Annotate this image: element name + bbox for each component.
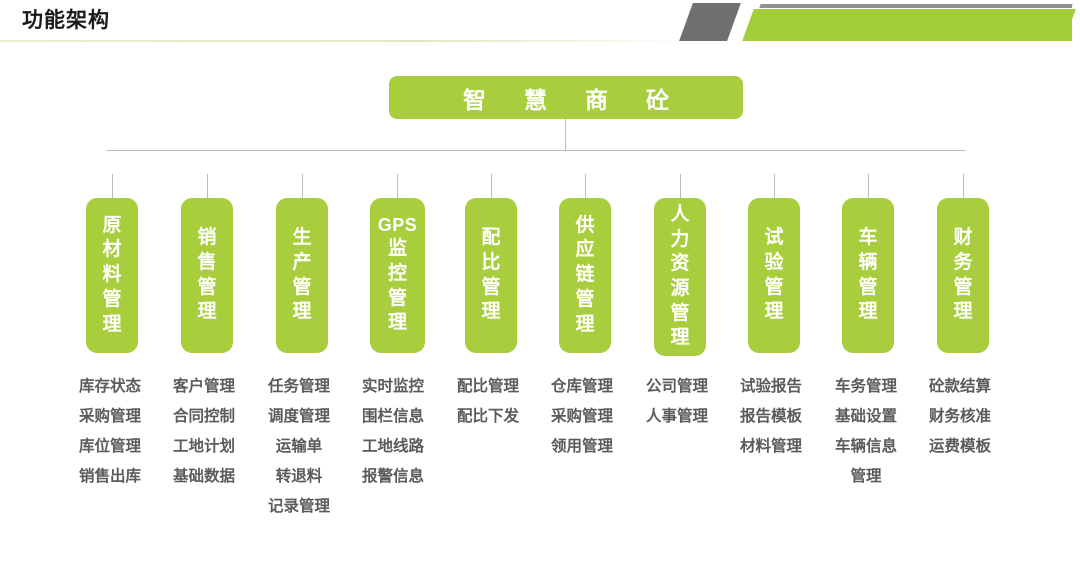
module-node-box[interactable]: 销售管理 xyxy=(181,198,233,353)
module-node-box[interactable]: 供应链管理 xyxy=(559,198,611,353)
module-node-label-char: 配 xyxy=(481,226,500,251)
module-node-label: 财务管理 xyxy=(953,226,972,325)
leaf-list-item[interactable]: 管理 xyxy=(818,462,914,492)
root-node[interactable]: 智慧商砼 xyxy=(389,76,743,119)
module-node-label-char: 管 xyxy=(102,288,121,313)
leaf-list-item[interactable]: 车辆信息 xyxy=(818,432,914,462)
leaf-list-item[interactable]: 采购管理 xyxy=(534,402,630,432)
leaf-list: 砼款结算财务核准运费模板 xyxy=(912,372,1008,462)
leaf-list: 配比管理配比下发 xyxy=(440,372,536,432)
module-node-box[interactable]: 配比管理 xyxy=(465,198,517,353)
module-node-label-char: 原 xyxy=(102,214,121,239)
leaf-list-item[interactable]: 仓库管理 xyxy=(534,372,630,402)
leaf-list-item[interactable]: 材料管理 xyxy=(723,432,819,462)
connector-root-stem xyxy=(565,119,566,150)
module-node-label-char: 理 xyxy=(292,300,311,325)
module-node-label-char: 比 xyxy=(481,251,500,276)
module-node-label-char: 管 xyxy=(953,276,972,301)
leaf-list: 库存状态采购管理库位管理销售出库 xyxy=(62,372,158,492)
module-node-label-char: 理 xyxy=(764,300,783,325)
module-node-label-char: 理 xyxy=(481,300,500,325)
page-title: 功能架构 xyxy=(22,4,110,34)
root-node-label: 智慧商砼 xyxy=(425,81,707,115)
module-node-label: 人力资源管理 xyxy=(670,203,689,351)
leaf-list: 实时监控围栏信息工地线路报警信息 xyxy=(345,372,441,492)
page-header: 功能架构 xyxy=(0,0,1080,46)
leaf-list-item[interactable]: 客户管理 xyxy=(156,372,252,402)
module-node-label-char: 管 xyxy=(481,276,500,301)
module-node-label-char: 材 xyxy=(102,238,121,263)
leaf-list: 任务管理调度管理运输单转退料记录管理 xyxy=(251,372,347,522)
module-node-label-char: 链 xyxy=(575,263,594,288)
module-node-label-char: 管 xyxy=(575,288,594,313)
connector-drop-line xyxy=(207,174,208,198)
leaf-list-item[interactable]: 财务核准 xyxy=(912,402,1008,432)
leaf-list-item[interactable]: 配比管理 xyxy=(440,372,536,402)
connector-drop-line xyxy=(774,174,775,198)
leaf-list-item[interactable]: 销售出库 xyxy=(62,462,158,492)
leaf-list-item[interactable]: 基础设置 xyxy=(818,402,914,432)
leaf-list-item[interactable]: 运输单 xyxy=(251,432,347,462)
module-node-label-char: 源 xyxy=(670,277,689,302)
module-node-label-char: 车 xyxy=(858,226,877,251)
module-node-label-char: 理 xyxy=(858,300,877,325)
module-node-box[interactable]: 试验管理 xyxy=(748,198,800,353)
module-node-label-char: 产 xyxy=(292,251,311,276)
leaf-list-item[interactable]: 报警信息 xyxy=(345,462,441,492)
header-gray-stripe-bar xyxy=(812,4,1072,8)
connector-drop-line xyxy=(491,174,492,198)
connector-drop-line xyxy=(963,174,964,198)
connector-drop-line xyxy=(112,174,113,198)
header-divider-rule xyxy=(0,40,700,42)
connector-drop-line xyxy=(397,174,398,198)
module-node-label-char: 力 xyxy=(670,228,689,253)
module-node-label-char: 理 xyxy=(197,300,216,325)
module-node-label-char: 供 xyxy=(575,214,594,239)
leaf-list-item[interactable]: 砼款结算 xyxy=(912,372,1008,402)
module-node-label-char: 销 xyxy=(197,226,216,251)
module-node-label-char: 管 xyxy=(858,276,877,301)
leaf-list-row: 库存状态采购管理库位管理销售出库客户管理合同控制工地计划基础数据任务管理调度管理… xyxy=(0,372,1080,552)
module-node-label: 配比管理 xyxy=(481,226,500,325)
leaf-list-item[interactable]: 报告模板 xyxy=(723,402,819,432)
leaf-list-item[interactable]: 合同控制 xyxy=(156,402,252,432)
module-node-box[interactable]: 人力资源管理 xyxy=(654,198,706,356)
module-node-label-char: 人 xyxy=(670,203,689,228)
module-node-label-char: 管 xyxy=(292,276,311,301)
module-node-label-char: 控 xyxy=(388,262,407,287)
module-node-label-char: 理 xyxy=(670,326,689,351)
leaf-list-item[interactable]: 采购管理 xyxy=(62,402,158,432)
leaf-list-item[interactable]: 调度管理 xyxy=(251,402,347,432)
header-gray-parallelogram-icon xyxy=(679,3,741,41)
leaf-list-item[interactable]: 实时监控 xyxy=(345,372,441,402)
module-node-label: 监控管理 xyxy=(388,237,407,336)
module-node-label-char: 料 xyxy=(102,263,121,288)
module-node-label-char: 试 xyxy=(764,226,783,251)
module-node-label-char: 管 xyxy=(670,302,689,327)
connector-drop-line xyxy=(302,174,303,198)
module-node-label-char: 理 xyxy=(953,300,972,325)
module-node-label-char: 监 xyxy=(388,237,407,262)
module-node-label: 供应链管理 xyxy=(575,214,594,337)
module-node-label: 试验管理 xyxy=(764,226,783,325)
leaf-list: 客户管理合同控制工地计划基础数据 xyxy=(156,372,252,492)
module-node-label-char: 辆 xyxy=(858,251,877,276)
module-node-label: 原材料管理 xyxy=(102,214,121,337)
module-node-latin-label: GPS xyxy=(378,215,418,237)
module-node-label-char: 售 xyxy=(197,251,216,276)
leaf-list-item[interactable]: 工地线路 xyxy=(345,432,441,462)
module-node-box[interactable]: 原材料管理 xyxy=(86,198,138,353)
leaf-list-item[interactable]: 基础数据 xyxy=(156,462,252,492)
leaf-list-item[interactable]: 任务管理 xyxy=(251,372,347,402)
connector-drop-line xyxy=(680,174,681,198)
module-node-box[interactable]: 生产管理 xyxy=(276,198,328,353)
leaf-list-item[interactable]: 领用管理 xyxy=(534,432,630,462)
module-node-label-char: 理 xyxy=(575,313,594,338)
module-node-label-char: 管 xyxy=(388,287,407,312)
module-node-label-char: 管 xyxy=(197,276,216,301)
leaf-list: 试验报告报告模板材料管理 xyxy=(723,372,819,462)
leaf-list-item[interactable]: 库存状态 xyxy=(62,372,158,402)
header-green-bar xyxy=(800,9,1072,41)
connector-drop-line xyxy=(585,174,586,198)
leaf-list-item[interactable]: 车务管理 xyxy=(818,372,914,402)
leaf-list-item[interactable]: 运费模板 xyxy=(912,432,1008,462)
module-node-label-char: 财 xyxy=(953,226,972,251)
module-node-box[interactable]: GPS监控管理 xyxy=(370,198,425,353)
leaf-list-item[interactable]: 配比下发 xyxy=(440,402,536,432)
connector-drop-line xyxy=(868,174,869,198)
leaf-list-item[interactable]: 记录管理 xyxy=(251,492,347,522)
leaf-list-item[interactable]: 库位管理 xyxy=(62,432,158,462)
module-node-row: 原材料管理销售管理生产管理GPS监控管理配比管理供应链管理人力资源管理试验管理车… xyxy=(0,150,1080,340)
module-node-label: 生产管理 xyxy=(292,226,311,325)
module-node-box[interactable]: 财务管理 xyxy=(937,198,989,353)
module-node-label-char: 应 xyxy=(575,238,594,263)
module-node-label-char: 务 xyxy=(953,251,972,276)
module-node-label: 车辆管理 xyxy=(858,226,877,325)
leaf-list: 车务管理基础设置车辆信息管理 xyxy=(818,372,914,492)
leaf-list-item[interactable]: 转退料 xyxy=(251,462,347,492)
leaf-list: 仓库管理采购管理领用管理 xyxy=(534,372,630,462)
module-node-label-char: 理 xyxy=(102,313,121,338)
module-node-box[interactable]: 车辆管理 xyxy=(842,198,894,353)
module-node-label-char: 验 xyxy=(764,251,783,276)
module-node-label-char: 理 xyxy=(388,311,407,336)
leaf-list-item[interactable]: 人事管理 xyxy=(629,402,725,432)
module-node-label-char: 生 xyxy=(292,226,311,251)
leaf-list: 公司管理人事管理 xyxy=(629,372,725,432)
module-node-label: 销售管理 xyxy=(197,226,216,325)
leaf-list-item[interactable]: 围栏信息 xyxy=(345,402,441,432)
leaf-list-item[interactable]: 试验报告 xyxy=(723,372,819,402)
module-node-label-char: 资 xyxy=(670,252,689,277)
module-node-label-char: 管 xyxy=(764,276,783,301)
leaf-list-item[interactable]: 工地计划 xyxy=(156,432,252,462)
leaf-list-item[interactable]: 公司管理 xyxy=(629,372,725,402)
